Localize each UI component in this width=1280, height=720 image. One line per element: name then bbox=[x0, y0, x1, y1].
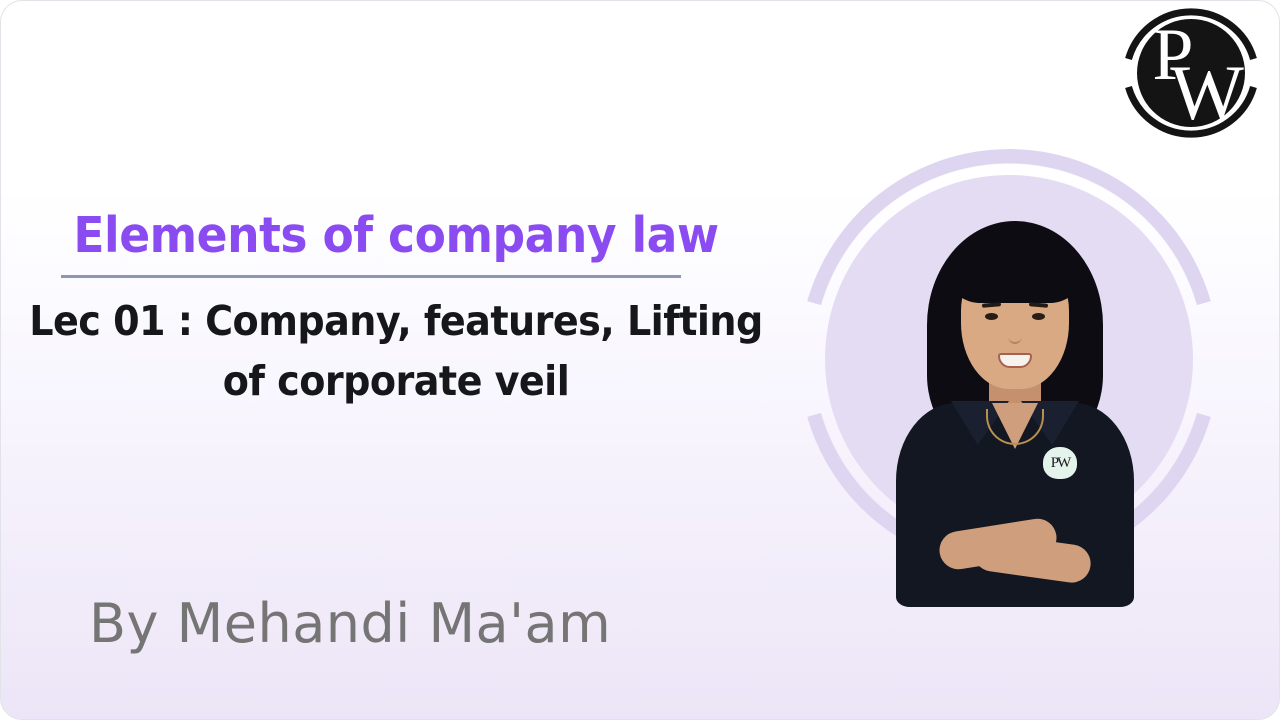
pw-brand-logo-icon: P W bbox=[1115, 0, 1267, 149]
lecture-subtitle: Lec 01 : Company, features, Lifting of c… bbox=[29, 291, 764, 411]
svg-text:W: W bbox=[1170, 49, 1244, 136]
title-text-block: Elements of company law Lec 01 : Company… bbox=[1, 206, 791, 411]
course-title: Elements of company law bbox=[29, 206, 764, 266]
eye-right bbox=[1032, 313, 1045, 320]
instructor-portrait-photo: PW bbox=[895, 195, 1135, 607]
mouth-smile bbox=[998, 353, 1032, 368]
photo-bottom-cutoff bbox=[895, 601, 1135, 607]
presenter-name: By Mehandi Ma'am bbox=[89, 589, 611, 659]
eye-left bbox=[985, 313, 998, 320]
shirt-pw-logo-icon: PW bbox=[1043, 447, 1077, 479]
title-divider-rule bbox=[61, 275, 681, 278]
portrait-circle-group: PW bbox=[799, 149, 1219, 569]
slide-canvas: PW P W Elements of company law Lec 01 : … bbox=[0, 0, 1280, 720]
